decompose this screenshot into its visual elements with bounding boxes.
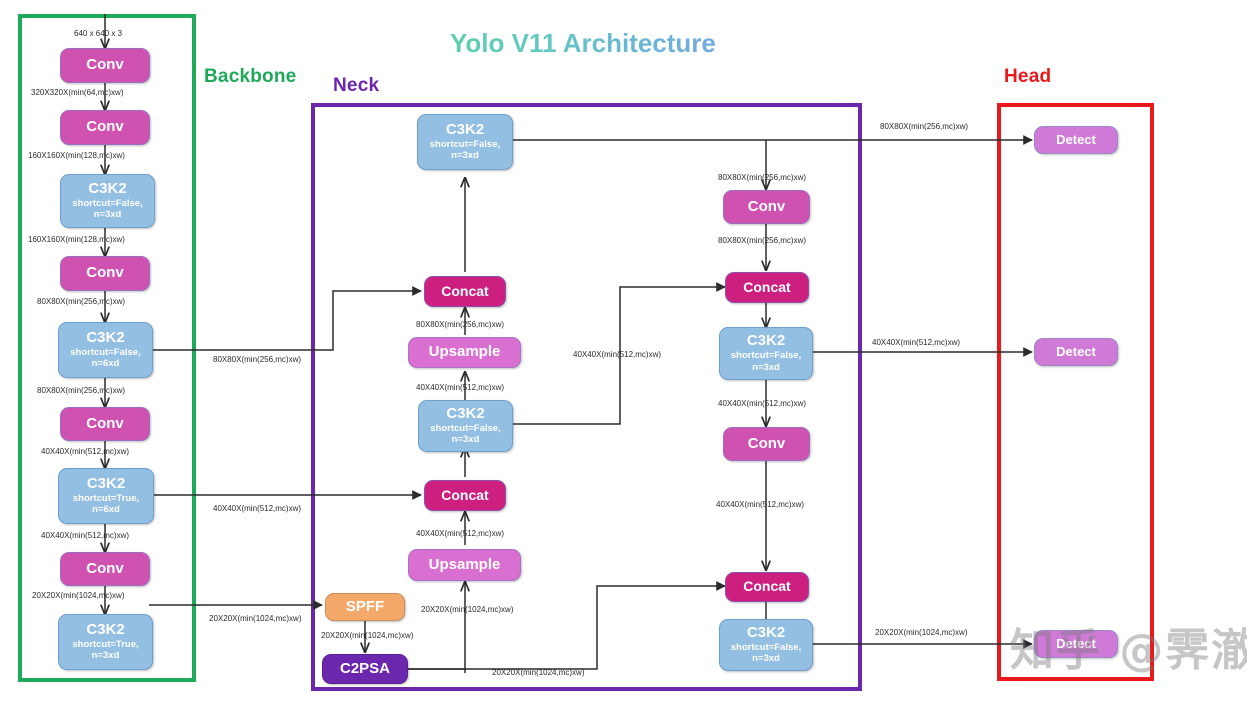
node-neck-upsample-2[interactable]: Upsample — [408, 549, 521, 581]
watermark: 知乎 @霁澈 — [1010, 614, 1247, 678]
node-sublabel: shortcut=False,n=3xd — [430, 423, 500, 447]
edge-label-right-3: 40X40X(min(512,mc)xw) — [718, 399, 806, 408]
node-neck-c3k2-r2[interactable]: C3K2 shortcut=False,n=3xd — [719, 619, 813, 671]
neck-group-label: Neck — [333, 75, 379, 97]
edge-label-neck-4: 20X20X(min(1024,mc)xw) — [421, 605, 513, 614]
edge-label-skip-p5: 20X20X(min(1024,mc)xw) — [209, 614, 301, 623]
node-neck-spff[interactable]: SPFF — [325, 593, 405, 621]
node-label: C3K2 — [86, 330, 124, 347]
page-title: Yolo V11 Architecture — [450, 28, 716, 59]
node-label: C3K2 — [88, 181, 126, 198]
node-sublabel: shortcut=False,n=6xd — [70, 347, 140, 371]
node-sublabel: shortcut=False,n=3xd — [731, 350, 801, 374]
node-sublabel: shortcut=False,n=3xd — [731, 642, 801, 666]
node-neck-c3k2-mid[interactable]: C3K2 shortcut=False,n=3xd — [418, 400, 513, 452]
node-neck-c2psa[interactable]: C2PSA — [322, 654, 408, 684]
node-backbone-c3k2-1[interactable]: C3K2 shortcut=False,n=3xd — [60, 174, 155, 228]
node-sublabel: shortcut=True,n=3xd — [72, 639, 138, 663]
node-label: C3K2 — [747, 625, 785, 642]
edge-label-neck-1: 80X80X(min(256,mc)xw) — [416, 320, 504, 329]
edge-label-bb-6: 40X40X(min(512,mc)xw) — [41, 447, 129, 456]
node-label: Concat — [441, 284, 488, 300]
edge-label-neck-6: 20X20X(min(1024,mc)xw) — [492, 668, 584, 677]
node-head-detect-1[interactable]: Detect — [1034, 126, 1118, 154]
edge-label-head-1: 80X80X(min(256,mc)xw) — [880, 122, 968, 131]
edge-label-bb-2: 160X160X(min(128,mc)xw) — [28, 151, 125, 160]
edge-label-right-4: 40X40X(min(512,mc)xw) — [716, 500, 804, 509]
node-backbone-conv-4[interactable]: Conv — [60, 407, 150, 441]
edge-label-neck-2: 40X40X(min(512,mc)xw) — [416, 383, 504, 392]
node-label: Conv — [748, 436, 786, 453]
node-label: C3K2 — [87, 476, 125, 493]
node-sublabel: shortcut=False,n=3xd — [430, 139, 500, 163]
diagram-canvas: Yolo V11 Architecture Backbone Neck Head — [0, 0, 1247, 705]
backbone-group-label: Backbone — [204, 66, 296, 88]
node-neck-concat-4[interactable]: Concat — [725, 572, 809, 602]
head-group-frame — [997, 103, 1154, 681]
node-neck-conv-1[interactable]: Conv — [723, 190, 810, 224]
node-backbone-c3k2-3[interactable]: C3K2 shortcut=True,n=6xd — [58, 468, 154, 524]
edge-label-right-2: 80X80X(min(256,mc)xw) — [718, 236, 806, 245]
node-label: Detect — [1056, 133, 1096, 148]
node-label: C2PSA — [340, 661, 390, 678]
node-neck-c3k2-r1[interactable]: C3K2 shortcut=False,n=3xd — [719, 327, 813, 380]
node-neck-concat-1[interactable]: Concat — [424, 276, 506, 307]
node-label: Conv — [86, 561, 124, 578]
node-label: Concat — [743, 280, 790, 296]
node-label: Conv — [748, 199, 786, 216]
node-backbone-conv-1[interactable]: Conv — [60, 48, 150, 83]
edge-label-head-2: 40X40X(min(512,mc)xw) — [872, 338, 960, 347]
node-backbone-conv-2[interactable]: Conv — [60, 110, 150, 145]
node-neck-concat-3[interactable]: Concat — [725, 272, 809, 303]
edge-label-bb-5: 80X80X(min(256,mc)xw) — [37, 386, 125, 395]
edge-label-head-3: 20X20X(min(1024,mc)xw) — [875, 628, 967, 637]
node-sublabel: shortcut=False,n=3xd — [72, 198, 142, 222]
node-sublabel: shortcut=True,n=6xd — [73, 493, 139, 517]
node-label: Conv — [86, 416, 124, 433]
edge-label-right-1: 80X80X(min(256,mc)xw) — [718, 173, 806, 182]
node-label: Upsample — [429, 557, 501, 574]
edge-label-bb-1: 320X320X(min(64,mc)xw) — [31, 88, 123, 97]
edge-label-neck-5: 20X20X(min(1024,mc)xw) — [321, 631, 413, 640]
node-backbone-conv-5[interactable]: Conv — [60, 552, 150, 586]
edge-label-bb-4: 80X80X(min(256,mc)xw) — [37, 297, 125, 306]
node-label: Detect — [1056, 345, 1096, 360]
node-neck-conv-2[interactable]: Conv — [723, 427, 810, 461]
node-label: C3K2 — [446, 122, 484, 139]
node-label: Conv — [86, 265, 124, 282]
node-label: C3K2 — [446, 406, 484, 423]
node-label: Conv — [86, 57, 124, 74]
edge-label-input: 640 x 640 x 3 — [74, 29, 122, 38]
node-label: C3K2 — [747, 333, 785, 350]
edge-label-neck-3: 40X40X(min(512,mc)xw) — [416, 529, 504, 538]
node-head-detect-2[interactable]: Detect — [1034, 338, 1118, 366]
node-label: Upsample — [429, 344, 501, 361]
node-label: SPFF — [346, 599, 384, 616]
edge-label-mid-p4: 40X40X(min(512,mc)xw) — [573, 350, 661, 359]
node-label: C3K2 — [86, 622, 124, 639]
edge-label-bb-3: 160X160X(min(128,mc)xw) — [28, 235, 125, 244]
node-backbone-c3k2-2[interactable]: C3K2 shortcut=False,n=6xd — [58, 322, 153, 378]
node-label: Concat — [441, 488, 488, 504]
edge-label-skip-p4: 40X40X(min(512,mc)xw) — [213, 504, 301, 513]
head-group-label: Head — [1004, 66, 1051, 88]
node-neck-c3k2-top[interactable]: C3K2 shortcut=False,n=3xd — [417, 114, 513, 170]
node-backbone-c3k2-4[interactable]: C3K2 shortcut=True,n=3xd — [58, 614, 153, 670]
node-backbone-conv-3[interactable]: Conv — [60, 256, 150, 291]
edge-label-skip-p3: 80X80X(min(256,mc)xw) — [213, 355, 301, 364]
node-label: Concat — [743, 579, 790, 595]
edge-label-bb-7: 40X40X(min(512,mc)xw) — [41, 531, 129, 540]
edge-label-bb-8: 20X20X(min(1024,mc)xw) — [32, 591, 124, 600]
node-neck-upsample-1[interactable]: Upsample — [408, 337, 521, 368]
node-label: Conv — [86, 119, 124, 136]
node-neck-concat-2[interactable]: Concat — [424, 480, 506, 511]
